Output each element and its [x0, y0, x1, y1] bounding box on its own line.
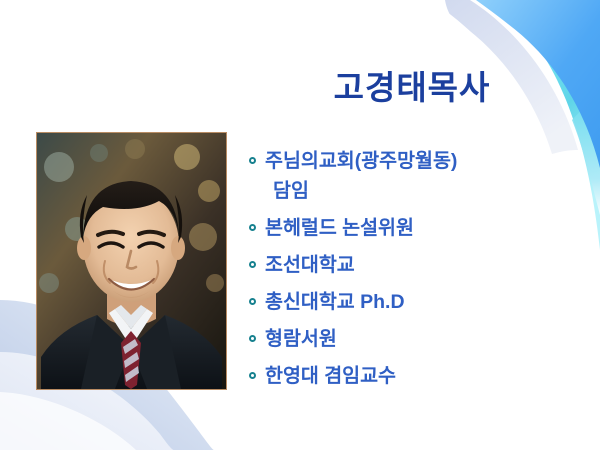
presentation-slide: 고경태목사	[0, 0, 600, 450]
ring-bullet-icon	[249, 298, 256, 305]
list-item-label: 형람서원	[265, 324, 593, 354]
ring-bullet-icon	[249, 261, 256, 268]
list-item-label: 한영대 겸임교수	[265, 361, 593, 391]
ring-bullet-icon	[249, 157, 256, 164]
list-item-label: 조선대학교	[265, 250, 593, 280]
list-item: 조선대학교	[248, 250, 593, 280]
list-item-label: 총신대학교 Ph.D	[265, 287, 593, 317]
ring-bullet-icon	[249, 372, 256, 379]
list-item: 형람서원	[248, 324, 593, 354]
list-item: 총신대학교 Ph.D	[248, 287, 593, 317]
list-item-continuation: 담임	[265, 176, 593, 206]
page-title: 고경태목사	[262, 61, 562, 109]
list-item-label: 본헤럴드 논설위원	[265, 213, 593, 243]
deco-bottom-white-cut	[0, 392, 136, 450]
ring-bullet-icon	[249, 224, 256, 231]
ring-bullet-icon	[249, 335, 256, 342]
list-item-label: 주님의교회(광주망월동)	[265, 146, 593, 176]
list-item: 한영대 겸임교수	[248, 361, 593, 391]
list-item: 주님의교회(광주망월동) 담임	[248, 146, 593, 206]
portrait-photo	[36, 132, 227, 390]
credentials-list: 주님의교회(광주망월동) 담임 본헤럴드 논설위원 조선대학교 총신대학교 Ph…	[248, 146, 593, 398]
list-item: 본헤럴드 논설위원	[248, 213, 593, 243]
